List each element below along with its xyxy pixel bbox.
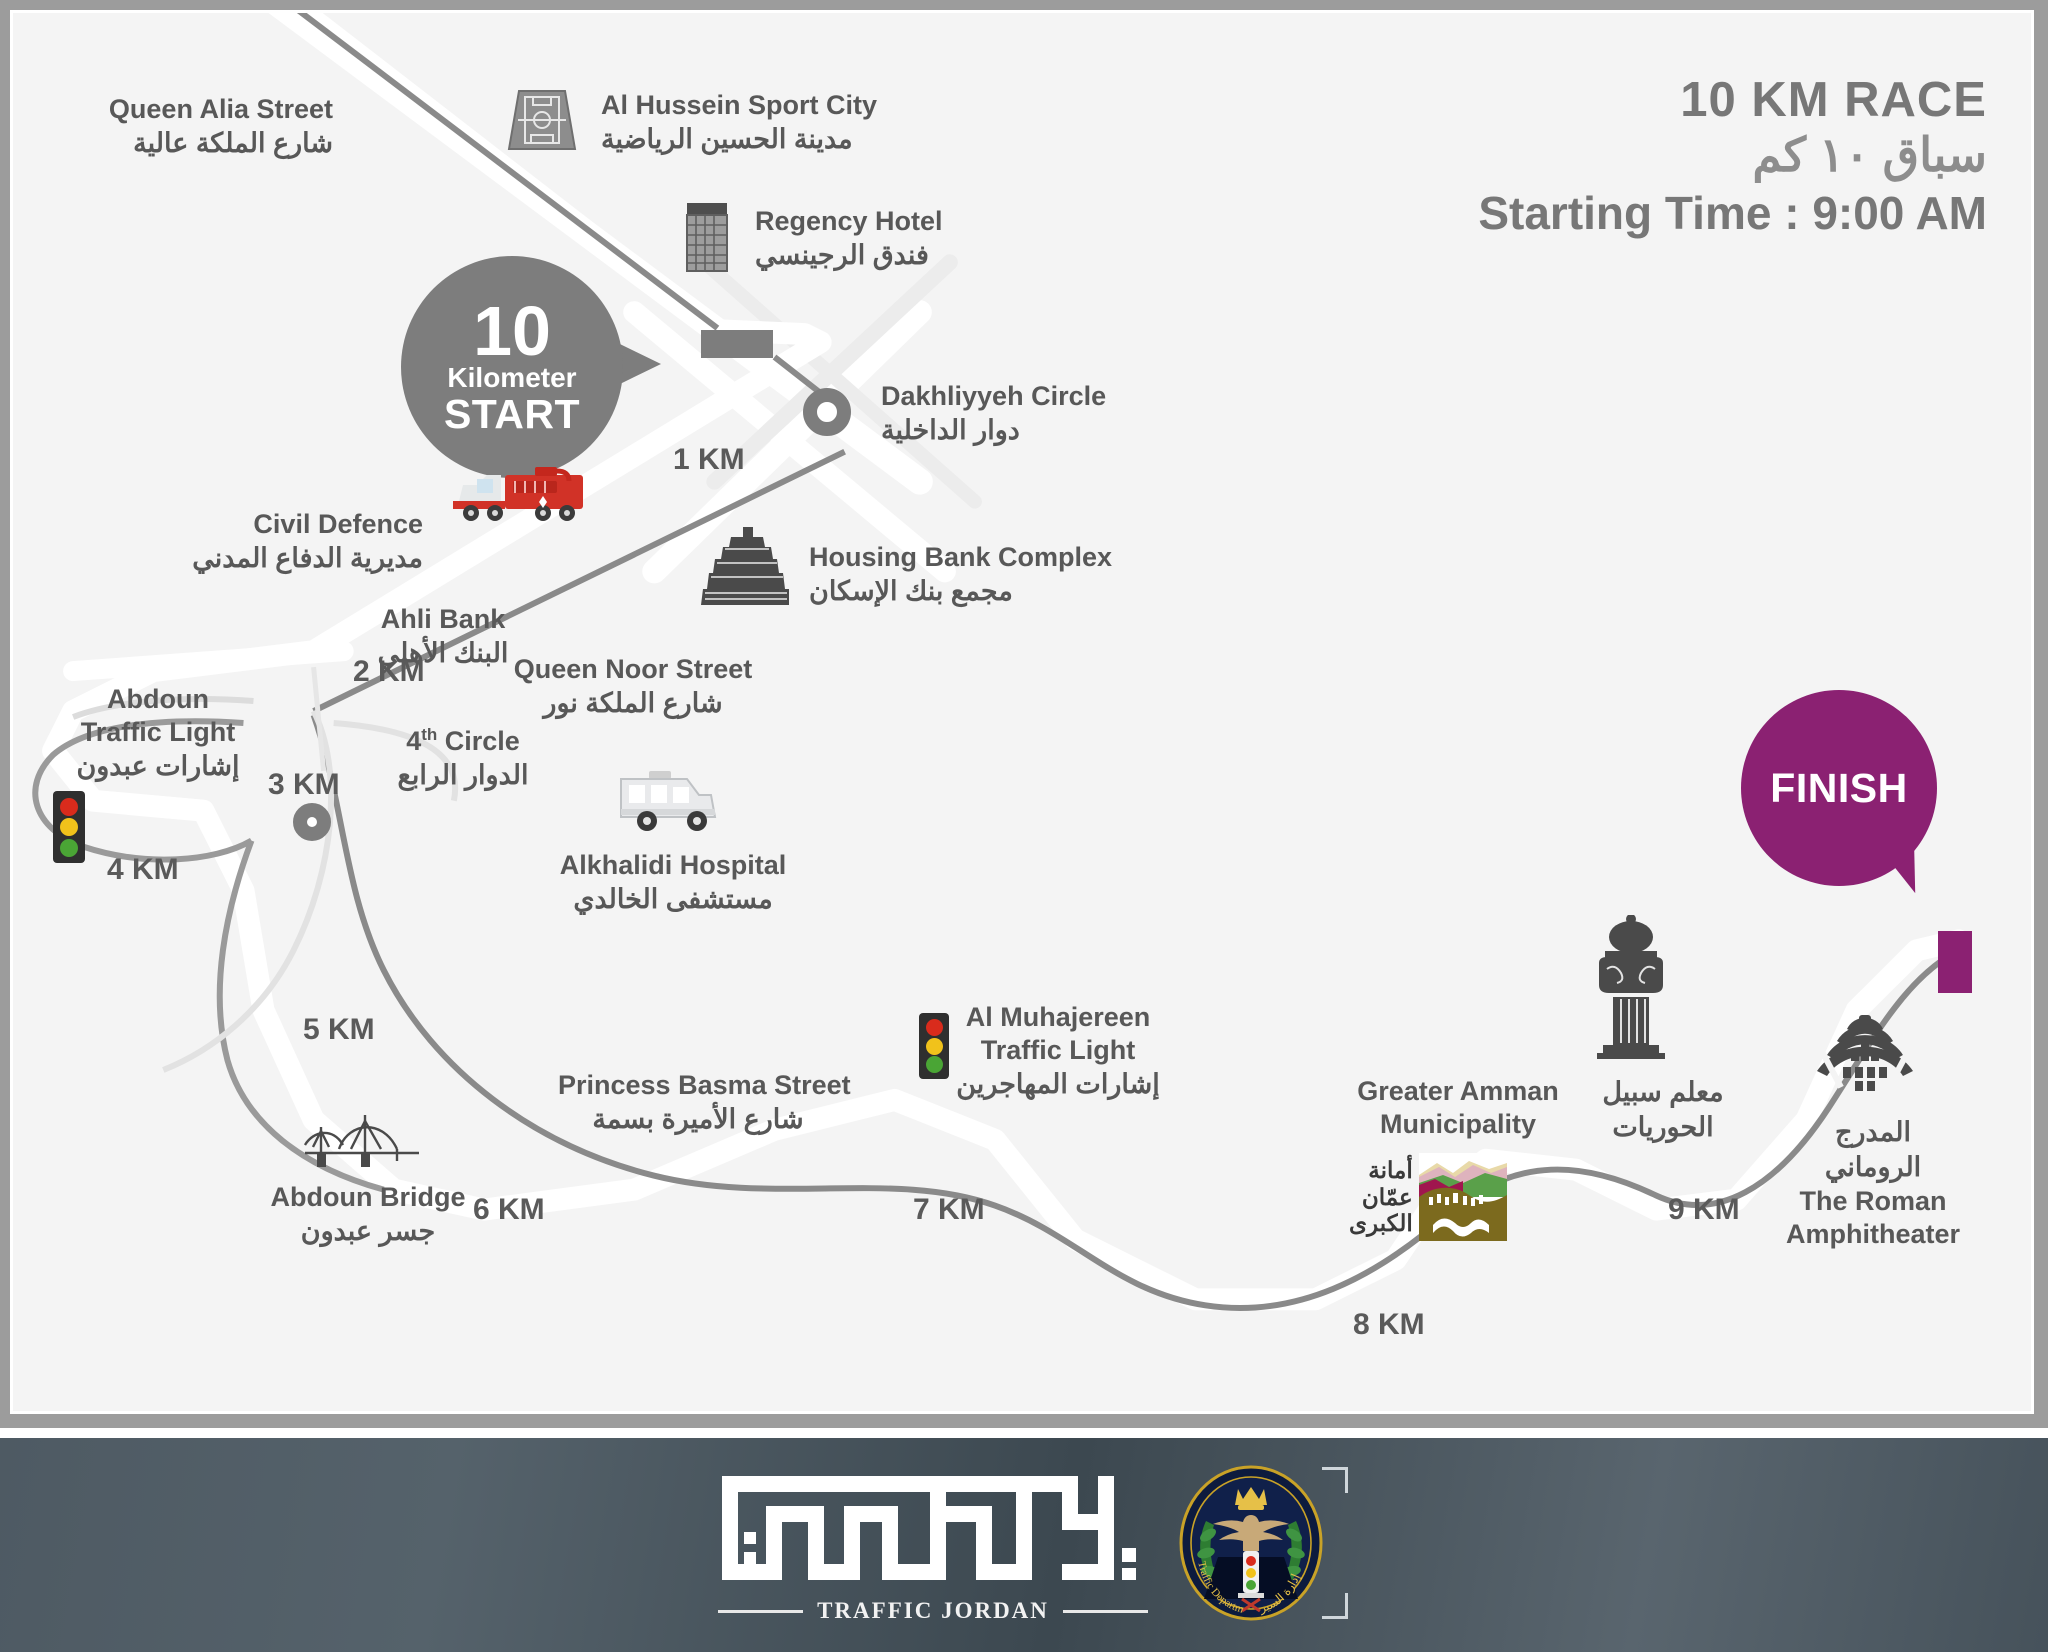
rule-left xyxy=(718,1610,803,1613)
traffic-light-yellow-lamp xyxy=(60,818,78,836)
start-distance-number: 10 xyxy=(473,299,551,363)
poi-label-en-line2: Municipality xyxy=(1333,1108,1583,1141)
poi-sabeel-al-hourriyat: معلم سبيل الحوريات xyxy=(1553,1075,1773,1145)
poi-al-muhajereen-traffic-light: Al Muhajereen Traffic Light إشارات المها… xyxy=(913,1001,1203,1102)
km-marker-6: 6 KM xyxy=(473,1193,545,1227)
race-title-ar: سباق ١٠ كم xyxy=(1478,127,1987,182)
poi-housing-bank-complex: Housing Bank Complex مجمع بنك الإسكان xyxy=(809,541,1112,609)
poi-label-en-line1: Greater Amman xyxy=(1333,1075,1583,1108)
poi-label-en: 4th Circle xyxy=(368,725,558,758)
poi-label-en-line1: Al Muhajereen xyxy=(913,1001,1203,1034)
poi-civil-defence: Civil Defence مديرية الدفاع المدني xyxy=(163,508,423,576)
poi-label-en: Princess Basma Street xyxy=(558,1069,838,1102)
race-title-en: 10 KM RACE xyxy=(1478,75,1987,127)
finish-line-bar xyxy=(1938,931,1972,993)
poi-queen-noor-street: Queen Noor Street شارع الملكة نور xyxy=(513,653,753,721)
traffic-department-emblem: Traffic Department إدارة السير xyxy=(1172,1463,1330,1623)
poi-label-ar: شارع الملكة نور xyxy=(513,686,753,721)
poi-label-en: Queen Alia Street xyxy=(53,93,333,126)
gam-logo-icon: أمانة عمّان الكبرى xyxy=(1349,1153,1507,1241)
traffic-jordan-wordmark: TRAFFIC JORDAN xyxy=(718,1598,1148,1624)
poi-label-ar: شارع الأميرة بسمة xyxy=(558,1102,838,1137)
dakhliyyeh-circle-node xyxy=(803,388,851,436)
poi-roman-amphitheater: المدرج الروماني The Roman Amphitheater xyxy=(1773,1115,1973,1251)
km-marker-8: 8 KM xyxy=(1353,1308,1425,1342)
poi-abdoun-bridge: Abdoun Bridge جسر عبدون xyxy=(253,1181,483,1249)
poi-label-ar-line1: المدرج xyxy=(1773,1115,1973,1150)
km-marker-9: 9 KM xyxy=(1668,1193,1740,1227)
finish-label: FINISH xyxy=(1770,765,1907,812)
brand-latin-text: TRAFFIC JORDAN xyxy=(817,1598,1049,1624)
km-marker-3: 3 KM xyxy=(268,768,340,802)
poi-dakhliyyeh-circle: Dakhliyyeh Circle دوار الداخلية xyxy=(881,380,1106,448)
traffic-jordan-logo: TRAFFIC JORDAN xyxy=(718,1462,1148,1624)
poi-label-en-line1: The Roman xyxy=(1773,1185,1973,1218)
start-marker[interactable]: 10 Kilometer START xyxy=(401,256,623,478)
poi-label-ar-line2: الحوريات xyxy=(1553,1110,1773,1145)
footer-logos: TRAFFIC JORDAN xyxy=(718,1462,1330,1624)
poi-label-en-line2: Amphitheater xyxy=(1773,1218,1973,1251)
poi-fourth-circle: 4th Circle الدوار الرابع xyxy=(368,725,558,793)
km-marker-5: 5 KM xyxy=(303,1013,375,1047)
poi-label-en: Civil Defence xyxy=(163,508,423,541)
poi-label-ar: فندق الرجينسي xyxy=(755,238,943,273)
poi-princess-basma-street: Princess Basma Street شارع الأميرة بسمة xyxy=(558,1069,838,1137)
km-marker-1: 1 KM xyxy=(673,443,745,477)
fourth-circle-node xyxy=(293,803,331,841)
start-line-bar xyxy=(701,330,773,358)
bracket-top-right xyxy=(1322,1467,1348,1493)
poi-label-en: Queen Noor Street xyxy=(513,653,753,686)
map-frame: 10 KM RACE سباق ١٠ كم Starting Time : 9:… xyxy=(0,0,2048,1428)
poi-abdoun-traffic-light: Abdoun Traffic Light إشارات عبدون xyxy=(43,683,273,784)
start-marker-bubble: 10 Kilometer START xyxy=(401,256,623,478)
poi-label-ar: مجمع بنك الإسكان xyxy=(809,574,1112,609)
poi-label-ar: جسر عبدون xyxy=(253,1214,483,1249)
poi-label-en-line2: Traffic Light xyxy=(43,716,273,749)
bridge-icon xyxy=(303,1109,421,1174)
poi-alkhalidi-hospital: Alkhalidi Hospital مستشفى الخالدي xyxy=(553,849,793,917)
finish-marker-bubble: FINISH xyxy=(1741,690,1937,886)
poi-label-ar: شارع الملكة عالية xyxy=(53,126,333,161)
traffic-light-icon xyxy=(53,791,85,863)
kufic-calligraphy-icon xyxy=(718,1462,1148,1594)
finish-marker[interactable]: FINISH xyxy=(1741,690,1937,886)
footer-bar: TRAFFIC JORDAN xyxy=(0,1434,2048,1652)
race-start-time: Starting Time : 9:00 AM xyxy=(1478,184,1987,244)
poi-label-ar: مستشفى الخالدي xyxy=(553,882,793,917)
race-route-poster: 10 KM RACE سباق ١٠ كم Starting Time : 9:… xyxy=(0,0,2048,1652)
traffic-light-red-lamp xyxy=(60,798,78,816)
poi-label-en: Ahli Bank xyxy=(333,603,553,636)
poi-label-ar-line2: الروماني xyxy=(1773,1150,1973,1185)
amphitheater-icon xyxy=(1803,1013,1927,1096)
tower-building-icon xyxy=(701,525,789,614)
poi-label-ar: دوار الداخلية xyxy=(881,413,1106,448)
stadium-icon xyxy=(505,83,579,162)
poi-label-en: Regency Hotel xyxy=(755,205,943,238)
poi-label-ar: مدينة الحسين الرياضية xyxy=(601,122,877,157)
poi-label-en: Al Hussein Sport City xyxy=(601,89,877,122)
start-label: START xyxy=(444,394,580,436)
poi-queen-alia-street: Queen Alia Street شارع الملكة عالية xyxy=(53,93,333,161)
poi-label-en: Alkhalidi Hospital xyxy=(553,849,793,882)
fire-truck-icon xyxy=(443,463,593,530)
start-distance-unit: Kilometer xyxy=(447,363,576,394)
km-marker-4: 4 KM xyxy=(107,853,179,887)
poi-label-en-line1: Abdoun xyxy=(43,683,273,716)
km-marker-2: 2 KM xyxy=(353,655,425,689)
traffic-light-green-lamp xyxy=(60,839,78,857)
map-canvas: 10 KM RACE سباق ١٠ كم Starting Time : 9:… xyxy=(10,10,2034,1414)
poi-greater-amman-municipality: Greater Amman Municipality xyxy=(1333,1075,1583,1141)
km-marker-7: 7 KM xyxy=(913,1193,985,1227)
poi-al-hussein-sport-city: Al Hussein Sport City مدينة الحسين الريا… xyxy=(601,89,877,157)
poi-label-ar-line1: معلم سبيل xyxy=(1553,1075,1773,1110)
poi-label-en: Dakhliyyeh Circle xyxy=(881,380,1106,413)
column-monument-icon xyxy=(1583,915,1679,1064)
poi-label-ar: مديرية الدفاع المدني xyxy=(163,541,423,576)
race-header: 10 KM RACE سباق ١٠ كم Starting Time : 9:… xyxy=(1478,75,1987,244)
poi-label-ar: الدوار الرابع xyxy=(368,758,558,793)
poi-label-en: Abdoun Bridge xyxy=(253,1181,483,1214)
poi-label-ar: إشارات عبدون xyxy=(43,749,273,784)
rule-right xyxy=(1063,1610,1148,1613)
poi-regency-hotel: Regency Hotel فندق الرجينسي xyxy=(755,205,943,273)
gam-logo-arabic-text: أمانة عمّان الكبرى xyxy=(1349,1157,1413,1237)
bracket-bottom-right xyxy=(1322,1593,1348,1619)
poi-label-en-line2: Traffic Light xyxy=(913,1034,1203,1067)
ambulance-icon xyxy=(613,769,725,842)
poi-label-en: Housing Bank Complex xyxy=(809,541,1112,574)
gam-emblem-icon xyxy=(1419,1153,1507,1241)
hotel-building-icon xyxy=(685,201,729,278)
poi-label-ar: إشارات المهاجرين xyxy=(913,1067,1203,1102)
